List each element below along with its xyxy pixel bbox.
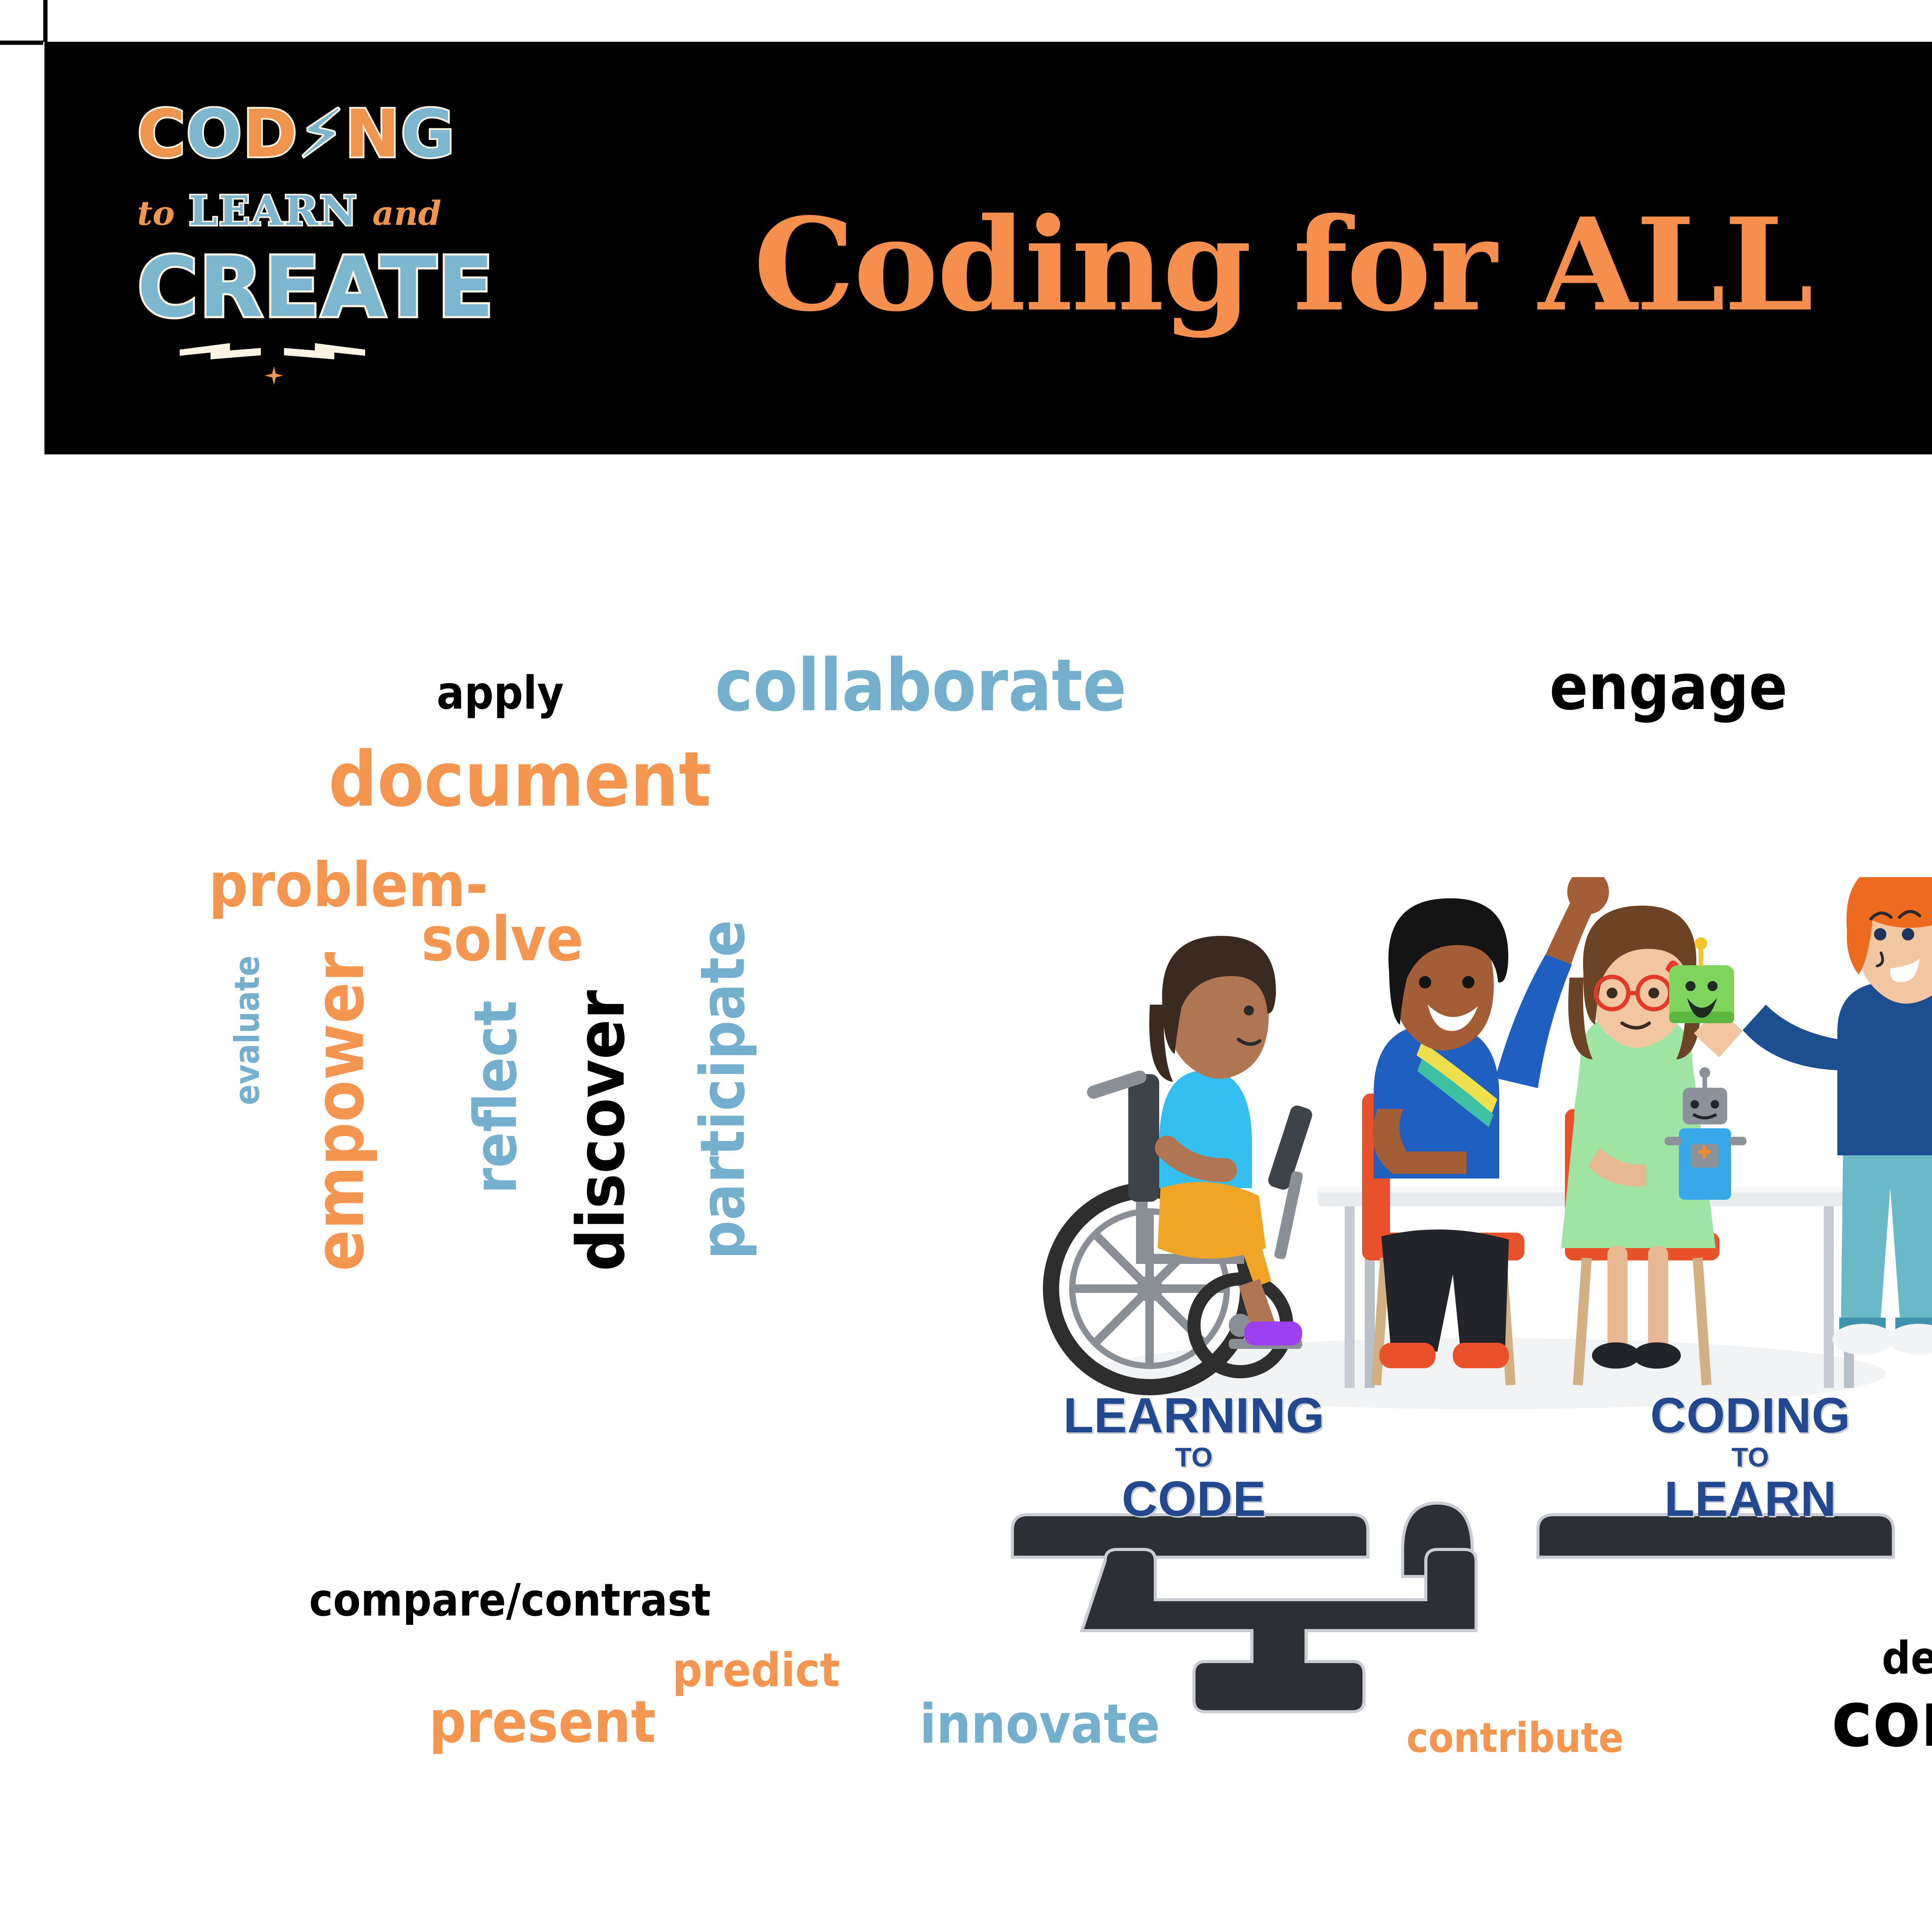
logo-coding-word: COD⚡NG — [137, 96, 408, 172]
logo-create-word: CREATE — [137, 239, 408, 336]
word-cloud-item: collaborate — [715, 653, 1126, 718]
balance-label-right: CODING TO LEARN — [1546, 1391, 1932, 1524]
boy-shoe-right — [1453, 1343, 1509, 1368]
balance-left-line1: LEARNING — [989, 1391, 1399, 1440]
logo-sparkle-icon — [265, 366, 283, 385]
coding-to-learn-and-create-logo: COD⚡NG to LEARN and CREATE — [137, 96, 408, 401]
crop-mark-top-left-vertical — [43, 0, 48, 42]
logo-to-learn-and-line: to LEARN and — [137, 187, 408, 235]
girl-shoe-left — [1592, 1342, 1640, 1369]
logo-bolt-left-icon — [180, 343, 261, 359]
balance-right-line2: TO — [1546, 1440, 1932, 1475]
logo-learn-word: LEARN — [189, 187, 359, 235]
page-title: Coding for ALL — [753, 201, 1812, 328]
word-cloud-item: empower — [309, 952, 370, 1271]
word-cloud-item: reflect — [469, 1000, 522, 1194]
balance-right-line1: CODING — [1546, 1391, 1932, 1440]
teacher-shoe-left — [1832, 1324, 1894, 1355]
balance-label-left: LEARNING TO CODE — [989, 1391, 1399, 1524]
teacher-shoe-right — [1888, 1324, 1932, 1355]
word-cloud-item: engage — [1549, 659, 1787, 716]
wheelchair-child-shoe — [1244, 1321, 1302, 1345]
logo-letter-d: D — [243, 96, 298, 172]
boy-shoe-left — [1379, 1343, 1435, 1368]
balance-left-line3: CODE — [989, 1475, 1399, 1524]
classroom-illustration-svg — [1012, 877, 1932, 1418]
balance-left-line2: TO — [989, 1440, 1399, 1475]
word-cloud-item: participate — [696, 920, 750, 1260]
logo-letter-n: N — [345, 96, 401, 172]
teacher-sweater — [1837, 981, 1932, 1155]
word-cloud-item: predict — [672, 1650, 840, 1692]
logo-lightning-bolt-icon: ⚡ — [298, 96, 345, 172]
balance-right-line3: LEARN — [1546, 1475, 1932, 1524]
word-cloud-item: apply — [437, 672, 564, 713]
word-cloud-item: contribute — [1406, 1719, 1624, 1756]
classroom-illustration — [1012, 877, 1932, 1418]
word-cloud-item: document — [328, 746, 711, 814]
logo-and-word: and — [372, 194, 441, 233]
word-cloud-item: solve — [421, 912, 583, 967]
logo-letter-o: O — [186, 96, 243, 172]
logo-letter-c: C — [137, 96, 186, 172]
logo-bolt-right-icon — [284, 343, 365, 359]
word-cloud-item: discover — [572, 990, 631, 1271]
logo-letter-g: G — [401, 96, 456, 172]
girl-shoe-right — [1633, 1342, 1681, 1369]
logo-to-word: to — [137, 194, 175, 233]
student-in-wheelchair — [1051, 936, 1314, 1387]
boy-pants — [1381, 1230, 1509, 1352]
word-cloud-item: present — [429, 1696, 656, 1748]
crop-mark-top-left-horizontal — [0, 41, 43, 45]
teacher-jeans — [1841, 1138, 1932, 1335]
word-cloud-item: evaluate — [232, 956, 262, 1105]
word-cloud-item: compare/contrast — [309, 1580, 711, 1621]
